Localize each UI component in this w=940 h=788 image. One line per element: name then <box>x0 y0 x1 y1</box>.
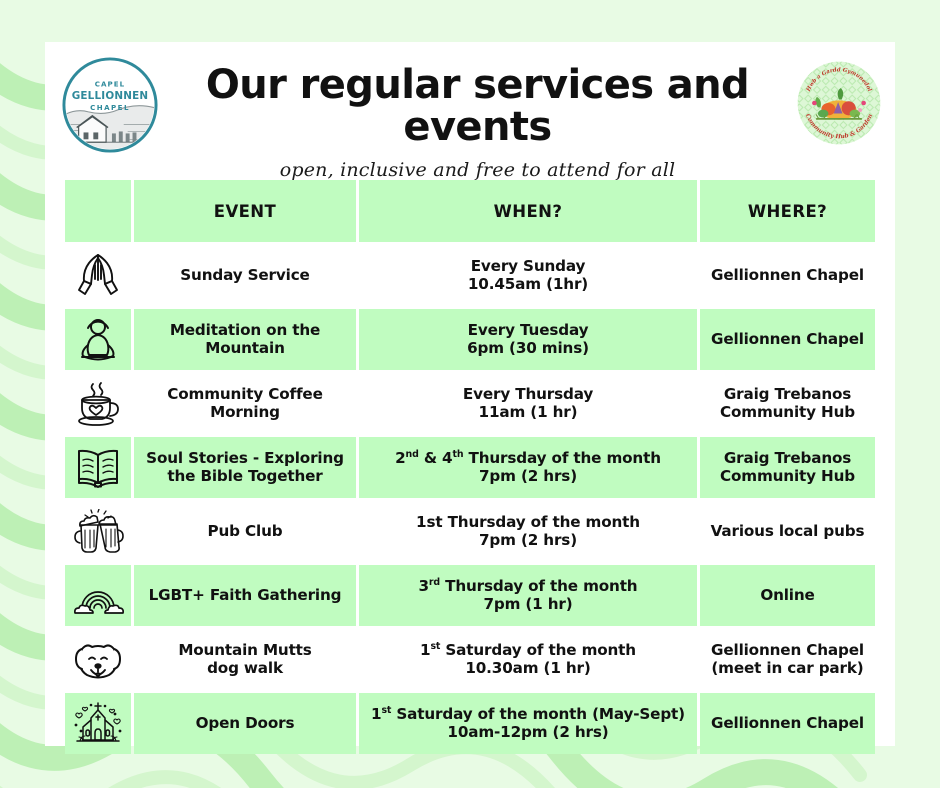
table-row: Soul Stories - Exploring the Bible Toget… <box>65 437 877 498</box>
rainbow-icon <box>72 575 124 617</box>
where-line-1: Gellionnen Chapel <box>711 331 864 349</box>
row-when-cell: Every Tuesday 6pm (30 mins) <box>359 309 697 370</box>
table-row: Sunday Service Every Sunday 10.45am (1hr… <box>65 245 877 306</box>
when-line-1: Every Sunday <box>468 258 588 276</box>
coffee-cup-icon <box>73 381 123 427</box>
graig-trebanos-community-hub-garden-logo: Hwb a Gardd Gymunedol Community Hub & Ga… <box>795 59 883 147</box>
when-line-2: 6pm (30 mins) <box>467 340 589 358</box>
event-name: Sunday Service <box>180 267 309 285</box>
event-name: Open Doors <box>196 715 295 733</box>
page-subtitle: open, inclusive and free to attend for a… <box>170 159 785 181</box>
row-when-cell: Every Thursday 11am (1 hr) <box>359 373 697 434</box>
ordinal-suffix: nd <box>406 449 419 460</box>
event-name: LGBT+ Faith Gathering <box>149 587 342 605</box>
church-icon <box>71 700 125 748</box>
row-where-cell: Graig Trebanos Community Hub <box>700 437 875 498</box>
where-line-1: Online <box>760 587 814 605</box>
row-icon-cell <box>65 629 131 690</box>
row-where-cell: Gellionnen Chapel <box>700 693 875 754</box>
row-icon-cell <box>65 565 131 626</box>
when-line-2: 10.45am (1hr) <box>468 276 588 294</box>
row-icon-cell <box>65 437 131 498</box>
row-event-cell: Sunday Service <box>134 245 356 306</box>
table-row: Community Coffee Morning Every Thursday … <box>65 373 877 434</box>
event-line-1: Meditation on the <box>170 322 320 340</box>
table-row: Mountain Mutts dog walk 1st Saturday of … <box>65 629 877 690</box>
row-when-cell: 1st Saturday of the month (May-Sept) 10a… <box>359 693 697 754</box>
ordinal-suffix: th <box>452 449 463 460</box>
open-book-icon <box>74 446 122 490</box>
row-when-cell: 1st Saturday of the month 10.30am (1 hr) <box>359 629 697 690</box>
when-line-1: 1st Thursday of the month <box>416 514 640 532</box>
row-event-cell: Community Coffee Morning <box>134 373 356 434</box>
row-where-cell: Graig Trebanos Community Hub <box>700 373 875 434</box>
event-line-1: Mountain Mutts <box>178 642 311 660</box>
row-icon-cell <box>65 501 131 562</box>
event-line-2: Mountain <box>170 340 320 358</box>
poster-card: CAPEL GELLIONNEN CHAPEL Our regular serv… <box>45 42 895 746</box>
where-line-1: Graig Trebanos <box>720 450 855 468</box>
header-cell-where: WHERE? <box>700 180 875 242</box>
where-line-2: Community Hub <box>720 404 855 422</box>
when-line-2: 10.30am (1 hr) <box>420 660 636 678</box>
when-line-1: 3rd Thursday of the month <box>419 578 638 596</box>
row-event-cell: Open Doors <box>134 693 356 754</box>
when-line-2: 7pm (2 hrs) <box>416 532 640 550</box>
row-when-cell: 2nd & 4th Thursday of the month 7pm (2 h… <box>359 437 697 498</box>
row-where-cell: Various local pubs <box>700 501 875 562</box>
event-line-1: Soul Stories - Exploring <box>146 450 344 468</box>
ordinal-suffix: st <box>381 705 391 716</box>
row-event-cell: LGBT+ Faith Gathering <box>134 565 356 626</box>
row-when-cell: 3rd Thursday of the month 7pm (1 hr) <box>359 565 697 626</box>
where-line-1: Various local pubs <box>711 523 865 541</box>
where-line-1: Graig Trebanos <box>720 386 855 404</box>
when-line-2: 7pm (2 hrs) <box>395 468 661 486</box>
table-row: Pub Club 1st Thursday of the month 7pm (… <box>65 501 877 562</box>
event-line-2: the Bible Together <box>146 468 344 486</box>
where-line-1: Gellionnen Chapel <box>711 267 864 285</box>
logo-line-chapel: CHAPEL <box>90 103 130 112</box>
where-line-2: Community Hub <box>720 468 855 486</box>
header-cell-when: WHEN? <box>359 180 697 242</box>
row-icon-cell <box>65 693 131 754</box>
when-line-1: 2nd & 4th Thursday of the month <box>395 450 661 468</box>
when-line-1: Every Thursday <box>463 386 593 404</box>
row-event-cell: Mountain Mutts dog walk <box>134 629 356 690</box>
poster-header: CAPEL GELLIONNEN CHAPEL Our regular serv… <box>45 42 895 160</box>
meditation-lotus-icon <box>76 316 120 364</box>
when-line-1: Every Tuesday <box>467 322 589 340</box>
row-when-cell: 1st Thursday of the month 7pm (2 hrs) <box>359 501 697 562</box>
row-icon-cell <box>65 245 131 306</box>
dog-face-icon <box>73 638 123 682</box>
table-row: Open Doors 1st Saturday of the month (Ma… <box>65 693 877 754</box>
row-icon-cell <box>65 309 131 370</box>
header-cell-event: EVENT <box>134 180 356 242</box>
events-table: EVENT WHEN? WHERE? Sunday <box>65 180 877 757</box>
table-row: LGBT+ Faith Gathering 3rd Thursday of th… <box>65 565 877 626</box>
ordinal-suffix: rd <box>429 577 440 588</box>
logo-line-capel: CAPEL <box>95 79 125 88</box>
capel-gellionnen-chapel-logo: CAPEL GELLIONNEN CHAPEL <box>61 56 159 154</box>
title-block: Our regular services and events open, in… <box>170 64 785 181</box>
event-line-2: Morning <box>167 404 323 422</box>
row-where-cell: Gellionnen Chapel (meet in car park) <box>700 629 875 690</box>
when-line-1: 1st Saturday of the month <box>420 642 636 660</box>
row-event-cell: Soul Stories - Exploring the Bible Toget… <box>134 437 356 498</box>
where-line-1: Gellionnen Chapel <box>711 715 864 733</box>
when-line-1: 1st Saturday of the month (May-Sept) <box>371 706 685 724</box>
praying-hands-icon <box>76 253 120 299</box>
table-header-row: EVENT WHEN? WHERE? <box>65 180 877 242</box>
header-cell-icon <box>65 180 131 242</box>
row-where-cell: Online <box>700 565 875 626</box>
page-title: Our regular services and events <box>170 64 785 148</box>
where-line-2: (meet in car park) <box>711 660 864 678</box>
logo-line-gellionnen: GELLIONNEN <box>72 90 149 102</box>
row-event-cell: Meditation on the Mountain <box>134 309 356 370</box>
row-where-cell: Gellionnen Chapel <box>700 309 875 370</box>
event-line-2: dog walk <box>178 660 311 678</box>
table-row: Meditation on the Mountain Every Tuesday… <box>65 309 877 370</box>
when-line-2: 7pm (1 hr) <box>419 596 638 614</box>
ordinal-suffix: st <box>430 641 440 652</box>
when-line-2: 10am-12pm (2 hrs) <box>371 724 685 742</box>
row-icon-cell <box>65 373 131 434</box>
row-event-cell: Pub Club <box>134 501 356 562</box>
row-where-cell: Gellionnen Chapel <box>700 245 875 306</box>
beer-mugs-icon <box>72 509 124 555</box>
when-line-2: 11am (1 hr) <box>463 404 593 422</box>
event-name: Pub Club <box>208 523 283 541</box>
event-line-1: Community Coffee <box>167 386 323 404</box>
row-when-cell: Every Sunday 10.45am (1hr) <box>359 245 697 306</box>
where-line-1: Gellionnen Chapel <box>711 642 864 660</box>
